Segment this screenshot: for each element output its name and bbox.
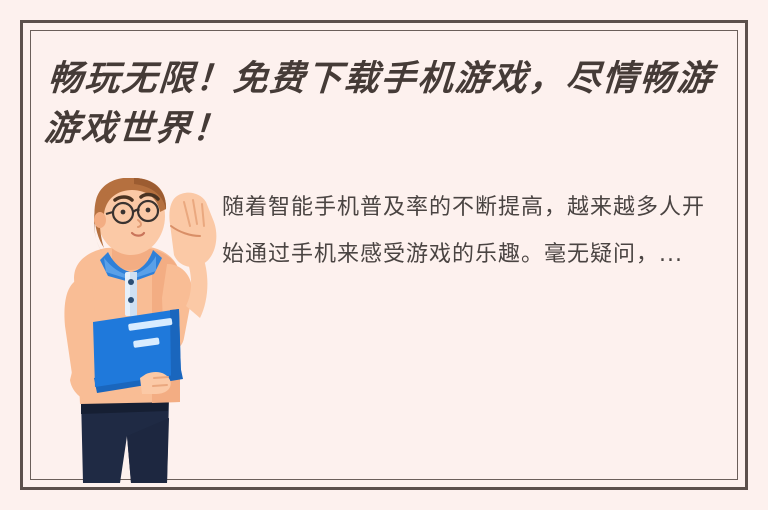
waving-hand [169, 193, 216, 267]
arm-left [64, 280, 96, 386]
article-poster: 畅玩无限！免费下载手机游戏，尽情畅游游戏世界！ [0, 0, 768, 510]
article-preview-text: 随着智能手机普及率的不断提高，越来越多人开始通过手机来感受游戏的乐趣。毫无疑问，… [222, 184, 722, 278]
eye-left [121, 210, 126, 215]
illustration-svg [34, 178, 234, 483]
hand-left [140, 372, 171, 394]
page-title: 畅玩无限！免费下载手机游戏，尽情畅游游戏世界！ [43, 54, 740, 154]
finger-line-1 [154, 377, 168, 378]
finger-line-2 [153, 385, 167, 386]
eye-right [146, 208, 151, 213]
ear [94, 212, 106, 228]
illustration-man-waving [34, 178, 234, 483]
